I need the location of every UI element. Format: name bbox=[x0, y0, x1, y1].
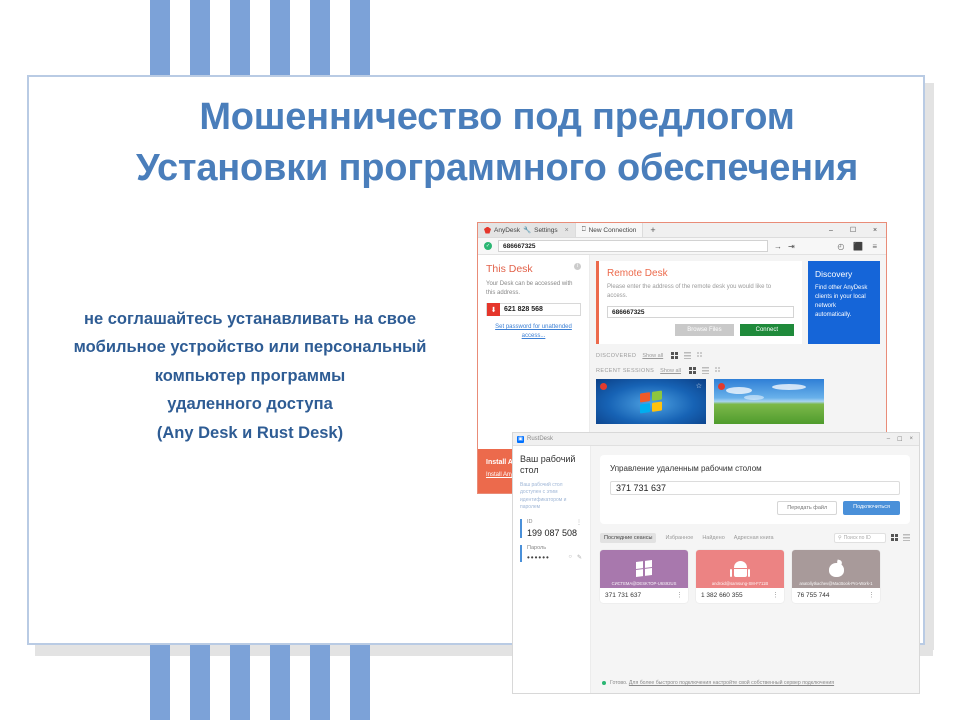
title-line-2: Установки программного обеспечения bbox=[27, 143, 960, 194]
tile-view-icon[interactable] bbox=[715, 367, 722, 374]
body-line: мобильное устройство или персональный bbox=[20, 333, 480, 361]
menu-icon[interactable]: ≡ bbox=[872, 242, 877, 251]
tile-view-icon[interactable] bbox=[697, 352, 704, 359]
maximize-icon[interactable]: ☐ bbox=[842, 223, 864, 237]
windows-icon bbox=[636, 560, 652, 577]
tab-favorites[interactable]: Избранное bbox=[665, 535, 693, 541]
set-password-link[interactable]: Set password for unattended access... bbox=[486, 323, 581, 341]
id-value: 199 087 508 bbox=[527, 528, 583, 538]
rustdesk-search-area: ⚲ Поиск по ID bbox=[834, 533, 910, 543]
remote-desk-title: Remote Desk bbox=[607, 268, 794, 279]
stripe-bar bbox=[350, 645, 370, 720]
body-line: компьютер программы bbox=[20, 362, 480, 390]
session-card-label: android@samsung-SM-F711B bbox=[696, 581, 784, 586]
grid-view-icon[interactable] bbox=[671, 352, 678, 359]
status-text: Готово. Для более быстрого подключения н… bbox=[610, 680, 834, 686]
password-label: Пароль bbox=[527, 545, 583, 551]
info-icon[interactable]: i bbox=[574, 263, 581, 270]
remote-desk-address-input[interactable]: 686667325 bbox=[607, 306, 794, 318]
this-desk-section: i This Desk Your Desk can be accessed wi… bbox=[478, 255, 589, 347]
anydesk-tab-main[interactable]: AnyDesk 🔧 Settings × bbox=[478, 223, 576, 237]
remote-desk-card: Remote Desk Please enter the address of … bbox=[596, 261, 802, 344]
recent-sessions-view-toggles bbox=[689, 367, 722, 374]
anydesk-tab-new-connection[interactable]: ⎕ New Connection bbox=[576, 223, 644, 237]
stripe-bar bbox=[190, 0, 210, 76]
tab-discovered[interactable]: Найдено bbox=[702, 535, 724, 541]
favorite-star-icon[interactable]: ☆ bbox=[696, 382, 702, 390]
stripe-bar bbox=[270, 645, 290, 720]
rustdesk-left-panel: Ваш рабочий стол Ваш рабочий стол доступ… bbox=[513, 446, 591, 694]
session-card-android[interactable]: android@samsung-SM-F711B 1 382 660 355 ⋮ bbox=[696, 550, 784, 603]
grid-view-icon[interactable] bbox=[689, 367, 696, 374]
remote-desk-actions: Browse Files Connect bbox=[607, 324, 794, 336]
go-arrow-icon[interactable]: → bbox=[774, 242, 782, 251]
discovery-card[interactable]: Discovery Find other AnyDesk clients in … bbox=[808, 261, 880, 344]
recent-session-thumbnails: ☆ bbox=[596, 379, 880, 424]
connection-status-icon: ✓ bbox=[484, 242, 492, 250]
id-menu-icon[interactable]: ⋮ bbox=[576, 519, 583, 526]
session-menu-icon[interactable]: ⋮ bbox=[772, 591, 779, 599]
refresh-password-icon[interactable]: ○ bbox=[568, 554, 573, 561]
password-value-row: •••••• ○ ✎ bbox=[527, 553, 583, 562]
open-new-window-icon[interactable]: ⇥ bbox=[788, 242, 795, 251]
rustdesk-id-field: ID ⋮ 199 087 508 bbox=[520, 519, 583, 538]
your-desktop-description: Ваш рабочий стол доступен с этим идентиф… bbox=[520, 482, 583, 512]
anydesk-tab-settings-label: Settings bbox=[534, 227, 558, 234]
stripe-bar bbox=[270, 0, 290, 76]
title-line-1: Мошенничество под предлогом bbox=[27, 92, 960, 143]
stripe-bar bbox=[190, 645, 210, 720]
remote-control-card: Управление удаленным рабочим столом 371 … bbox=[600, 455, 910, 524]
session-card-footer: 1 382 660 355 ⋮ bbox=[696, 588, 784, 603]
status-ready-text: Готово. bbox=[610, 680, 627, 686]
stripe-bar bbox=[150, 645, 170, 720]
anydesk-logo-icon bbox=[484, 227, 491, 234]
windows-logo-icon bbox=[640, 390, 662, 413]
this-desk-address-value: 621 828 568 bbox=[500, 306, 543, 313]
anydesk-address-bar: ✓ 686667325 → ⇥ ◴ ⬛ ≡ bbox=[478, 238, 886, 255]
session-id: 1 382 660 355 bbox=[701, 592, 743, 599]
rustdesk-status-bar: Готово. Для более быстрого подключения н… bbox=[600, 676, 910, 694]
presentation-slide: Мошенничество под предлогом Установки пр… bbox=[0, 0, 960, 720]
session-menu-icon[interactable]: ⋮ bbox=[868, 591, 875, 599]
record-dot-icon bbox=[600, 383, 607, 390]
connect-button[interactable]: Подключиться bbox=[843, 501, 900, 515]
rustdesk-window-controls: – ☐ × bbox=[887, 436, 915, 443]
apple-icon bbox=[829, 560, 844, 577]
remote-control-actions: Передать файл Подключиться bbox=[610, 501, 900, 515]
session-id: 76 755 744 bbox=[797, 592, 830, 599]
session-card-footer: 371 731 637 ⋮ bbox=[600, 588, 688, 603]
anydesk-toolbar-icons: ◴ ⬛ ≡ bbox=[837, 242, 880, 251]
search-icon: ⚲ bbox=[838, 535, 842, 541]
search-placeholder: Поиск по ID bbox=[844, 535, 871, 541]
tab-address-book[interactable]: Адресная книга bbox=[734, 535, 774, 541]
session-cards: СИСТЕМА@DESKTOP-U6S92US 371 731 637 ⋮ bbox=[600, 550, 910, 603]
new-tab-button[interactable]: + bbox=[643, 223, 662, 237]
list-view-icon[interactable] bbox=[903, 534, 910, 541]
discovered-label: DISCOVERED bbox=[596, 353, 636, 359]
maximize-icon[interactable]: ☐ bbox=[897, 436, 902, 443]
rustdesk-titlebar: ▣ RustDesk – ☐ × bbox=[513, 433, 919, 446]
page-title: Мошенничество под предлогом Установки пр… bbox=[27, 92, 960, 193]
search-input[interactable]: ⚲ Поиск по ID bbox=[834, 533, 886, 543]
transfer-file-button[interactable]: Передать файл bbox=[777, 501, 837, 515]
session-card-header: СИСТЕМА@DESKTOP-U6S92US bbox=[600, 550, 688, 588]
stripe-bar bbox=[310, 0, 330, 76]
body-line: (Any Desk и Rust Desk) bbox=[20, 419, 480, 447]
stripe-bar bbox=[230, 0, 250, 76]
discovered-view-toggles bbox=[671, 352, 704, 359]
tab-recent-sessions[interactable]: Последние сеансы bbox=[600, 533, 656, 543]
slide-body-text: не соглашайтесь устанавливать на свое мо… bbox=[20, 305, 480, 447]
rustdesk-password-field: Пароль •••••• ○ ✎ bbox=[520, 545, 583, 562]
stripe-bar bbox=[310, 645, 330, 720]
body-line: удаленного доступа bbox=[20, 390, 480, 418]
discovery-description: Find other AnyDesk clients in your local… bbox=[815, 284, 873, 320]
cloud-shape bbox=[744, 395, 764, 400]
grid-view-icon[interactable] bbox=[891, 534, 898, 541]
decorative-stripes-top bbox=[150, 0, 390, 76]
session-menu-icon[interactable]: ⋮ bbox=[676, 591, 683, 599]
rustdesk-app-window: ▣ RustDesk – ☐ × Ваш рабочий стол Ваш ра… bbox=[512, 432, 920, 694]
this-desk-description: Your Desk can be accessed with this addr… bbox=[486, 280, 581, 297]
close-icon[interactable]: × bbox=[909, 436, 913, 443]
stripe-bar bbox=[230, 645, 250, 720]
stripe-bar bbox=[150, 0, 170, 76]
id-label-row: ID ⋮ bbox=[527, 519, 583, 526]
this-desk-title: This Desk bbox=[486, 263, 581, 275]
discovery-title: Discovery bbox=[815, 269, 873, 279]
anydesk-tab-label: New Connection bbox=[589, 227, 637, 234]
cloud-shape bbox=[726, 387, 752, 394]
wrench-icon: 🔧 bbox=[523, 226, 531, 234]
edit-password-icon[interactable]: ✎ bbox=[577, 554, 583, 561]
anydesk-window-controls: – ☐ × bbox=[820, 223, 886, 237]
decorative-stripes-bottom bbox=[150, 645, 390, 720]
tab-close-icon[interactable]: × bbox=[565, 227, 569, 234]
recent-session-thumbnail-windowsxp[interactable] bbox=[714, 379, 824, 424]
your-desktop-title: Ваш рабочий стол bbox=[520, 454, 583, 477]
remote-desk-description: Please enter the address of the remote d… bbox=[607, 283, 794, 300]
anydesk-tab-label: AnyDesk bbox=[494, 227, 520, 234]
cloud-shape bbox=[772, 384, 806, 390]
save-icon[interactable]: ⬛ bbox=[853, 242, 863, 251]
password-value: •••••• bbox=[527, 553, 550, 562]
rustdesk-body: Ваш рабочий стол Ваш рабочий стол доступ… bbox=[513, 446, 919, 694]
list-view-icon[interactable] bbox=[684, 352, 691, 359]
history-icon[interactable]: ◴ bbox=[837, 242, 844, 251]
minimize-icon[interactable]: – bbox=[887, 436, 890, 443]
session-card-header: anatoliytkachev@MacBook-Pro-Work-1 bbox=[792, 550, 880, 588]
recent-sessions-label: RECENT SESSIONS bbox=[596, 368, 654, 374]
discovered-section-header: DISCOVERED Show all bbox=[596, 352, 880, 359]
remote-control-title: Управление удаленным рабочим столом bbox=[610, 464, 900, 475]
body-line: не соглашайтесь устанавливать на свое bbox=[20, 305, 480, 333]
status-dot-icon bbox=[602, 681, 606, 685]
minimize-icon[interactable]: – bbox=[820, 223, 842, 237]
recent-session-thumbnail-windows7[interactable]: ☆ bbox=[596, 379, 706, 424]
id-label: ID bbox=[527, 519, 533, 525]
session-card-header: android@samsung-SM-F711B bbox=[696, 550, 784, 588]
password-actions: ○ ✎ bbox=[568, 554, 583, 561]
browse-files-button[interactable]: Browse Files bbox=[675, 324, 733, 336]
remote-desk-row: Remote Desk Please enter the address of … bbox=[596, 261, 880, 344]
anydesk-titlebar: AnyDesk 🔧 Settings × ⎕ New Connection + … bbox=[478, 223, 886, 238]
rustdesk-right-panel: Управление удаленным рабочим столом 371 … bbox=[591, 446, 919, 694]
stripe-bar bbox=[350, 0, 370, 76]
rustdesk-logo-icon: ▣ bbox=[517, 436, 524, 443]
session-card-label: anatoliytkachev@MacBook-Pro-Work-1 bbox=[792, 581, 880, 586]
anydesk-address-input[interactable]: 686667325 bbox=[498, 240, 768, 252]
status-hint-link[interactable]: Для более быстрого подключения настройте… bbox=[629, 680, 834, 686]
session-card-apple[interactable]: anatoliytkachev@MacBook-Pro-Work-1 76 75… bbox=[792, 550, 880, 603]
rustdesk-window-title: RustDesk bbox=[527, 436, 553, 442]
session-id: 371 731 637 bbox=[605, 592, 641, 599]
close-icon[interactable]: × bbox=[864, 223, 886, 237]
session-card-footer: 76 755 744 ⋮ bbox=[792, 588, 880, 603]
record-dot-icon bbox=[718, 383, 725, 390]
this-desk-address-field[interactable]: ⬇ 621 828 568 bbox=[486, 303, 581, 316]
monitor-icon: ⎕ bbox=[582, 226, 586, 234]
discovered-show-all-link[interactable]: Show all bbox=[642, 353, 663, 359]
session-card-windows[interactable]: СИСТЕМА@DESKTOP-U6S92US 371 731 637 ⋮ bbox=[600, 550, 688, 603]
session-card-label: СИСТЕМА@DESKTOP-U6S92US bbox=[600, 581, 688, 586]
download-badge-icon: ⬇ bbox=[487, 303, 500, 316]
connect-button[interactable]: Connect bbox=[740, 324, 794, 336]
list-view-icon[interactable] bbox=[702, 367, 709, 374]
recent-sessions-section-header: RECENT SESSIONS Show all bbox=[596, 367, 880, 374]
rustdesk-tabs: Последние сеансы Избранное Найдено Адрес… bbox=[600, 533, 910, 543]
recent-sessions-show-all-link[interactable]: Show all bbox=[660, 368, 681, 374]
remote-id-input[interactable]: 371 731 637 bbox=[610, 481, 900, 495]
android-icon bbox=[733, 561, 748, 577]
